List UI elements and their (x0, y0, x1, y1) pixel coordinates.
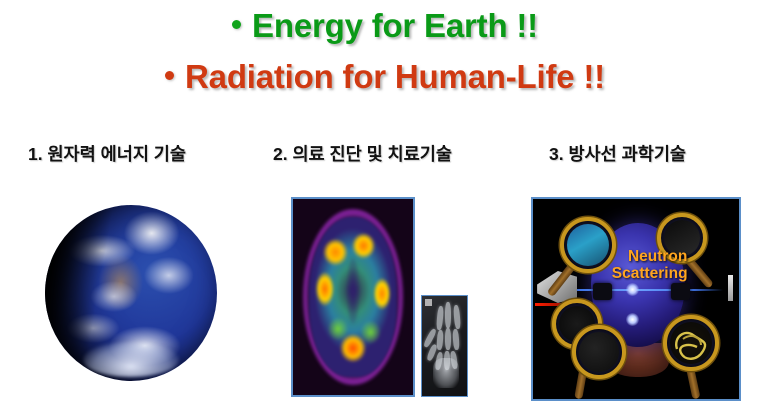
magnifier-lens-sample (572, 325, 626, 379)
magnifier-lens-polymer (663, 315, 719, 371)
neutron-scatter-glow (626, 283, 639, 296)
xray-finger-bone (445, 328, 451, 350)
neutron-collimator-left (593, 283, 612, 300)
bullet-dot-icon (165, 71, 174, 80)
hand-xray (421, 295, 468, 397)
figure-row: Neutron Scattering (0, 190, 770, 403)
pet-brain-scan (291, 197, 415, 397)
headline-radiation-text: Radiation for Human-Life !! (185, 58, 605, 96)
neutron-detector-bar (728, 275, 733, 301)
caption-row: 1. 원자력 에너지 기술 2. 의료 진단 및 치료기술 3. 방사선 과학기… (0, 141, 770, 169)
xray-finger-bone (436, 306, 444, 330)
xray-finger-bone (437, 330, 444, 350)
magnifier-lens-crystal (560, 217, 616, 273)
headline-energy: Energy for Earth !! (0, 0, 770, 52)
headline-radiation: Radiation for Human-Life !! (0, 52, 770, 102)
xray-finger-bone (452, 305, 460, 329)
xray-metacarpal (444, 351, 450, 370)
polymer-chain-icon (667, 319, 715, 367)
neutron-collimator-right (671, 283, 690, 300)
caption-nuclear-energy: 1. 원자력 에너지 기술 (28, 141, 186, 166)
caption-medical-diagnosis: 2. 의료 진단 및 치료기술 (273, 141, 452, 166)
headline-block: Energy for Earth !! Radiation for Human-… (0, 0, 770, 102)
neutron-label-line1: Neutron (628, 248, 687, 265)
xray-finger-bone (445, 302, 451, 328)
xray-finger-bone (452, 329, 459, 350)
neutron-scattering-label: Neutron Scattering (628, 249, 688, 282)
neutron-scattering-diagram: Neutron Scattering (531, 197, 741, 401)
earth-terminator-shadow (45, 205, 217, 381)
caption-radiation-science: 3. 방사선 과학기술 (549, 141, 686, 166)
neutron-label-line2: Scattering (612, 266, 688, 283)
xray-marker-icon (425, 299, 432, 306)
headline-energy-text: Energy for Earth !! (252, 7, 538, 45)
bullet-dot-icon (232, 20, 241, 29)
pet-scan-frame (291, 197, 415, 397)
earth-photo (45, 205, 217, 381)
neutron-scatter-glow (626, 313, 639, 326)
slide-canvas: Energy for Earth !! Radiation for Human-… (0, 0, 770, 403)
